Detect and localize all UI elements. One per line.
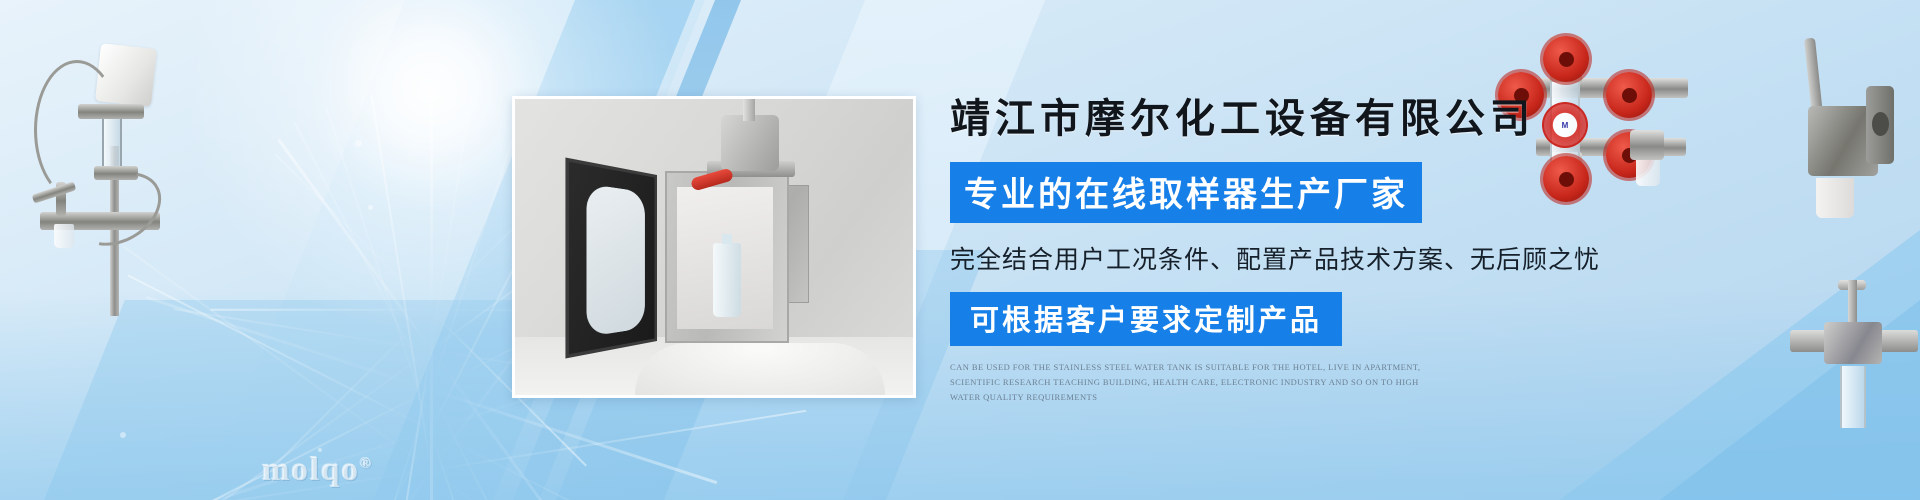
photo-sample-bottle xyxy=(713,243,741,317)
valve-outlet-cap xyxy=(1816,178,1854,218)
english-description: CAN BE USED FOR THE STAINLESS STEEL WATE… xyxy=(950,360,1450,405)
photo-cabinet-interior xyxy=(677,187,773,329)
photo-pedestal xyxy=(635,343,885,395)
headline-secondary: 可根据客户要求定制产品 xyxy=(950,292,1342,346)
online-sampler-pole-assembly-icon xyxy=(10,26,190,316)
photo-valve-stem xyxy=(743,99,755,121)
bokeh-dot xyxy=(368,205,373,210)
promo-banner: M 靖江市摩尔化工设备有限公司 专业的在线取样器生产厂家 完全结合用户工况条件、… xyxy=(0,0,1920,500)
product-photo xyxy=(512,96,916,398)
valve2-sight-glass xyxy=(1840,366,1866,428)
valve-flange xyxy=(1866,86,1894,164)
subline-description: 完全结合用户工况条件、配置产品技术方案、无后顾之忧 xyxy=(950,240,1770,276)
watermark-logo: molqo® xyxy=(262,452,373,489)
sun-ray xyxy=(430,90,433,310)
photo-valve-head xyxy=(721,115,779,171)
bokeh-dot xyxy=(355,140,362,147)
company-name: 靖江市摩尔化工设备有限公司 xyxy=(950,86,1770,144)
sample-bottle xyxy=(54,224,74,248)
valve-lever-handle xyxy=(1804,38,1823,117)
handwheel-top xyxy=(1543,36,1589,82)
banner-text-block: 靖江市摩尔化工设备有限公司 专业的在线取样器生产厂家 完全结合用户工况条件、配置… xyxy=(950,86,1770,405)
photo-door-window xyxy=(586,184,644,337)
watermark-text: molqo xyxy=(262,452,360,488)
registered-mark-icon: ® xyxy=(360,456,373,472)
angle-valve-lever-icon xyxy=(1790,28,1920,218)
valve2-body xyxy=(1824,322,1882,364)
valve2-arm-right xyxy=(1876,330,1918,352)
valve2-stem xyxy=(1848,280,1857,324)
sun-ray xyxy=(275,154,432,311)
photo-cabinet xyxy=(665,171,789,343)
photo-cabinet-door xyxy=(565,158,657,359)
headline-primary: 专业的在线取样器生产厂家 xyxy=(950,162,1422,223)
inline-sampling-valve-icon xyxy=(1790,280,1920,460)
bokeh-dot xyxy=(120,432,126,438)
